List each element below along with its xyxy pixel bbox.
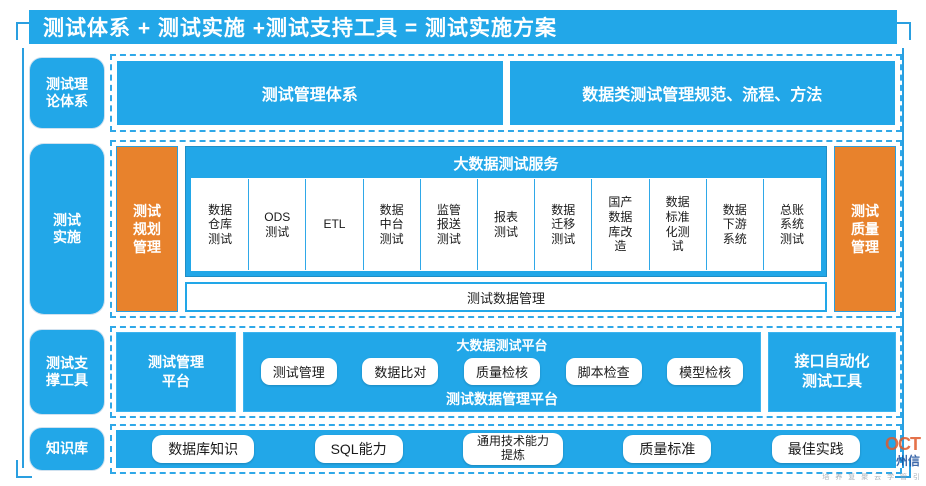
- row-label-theory: 测试理 论体系: [30, 58, 104, 128]
- title-banner: 测试体系 + 测试实施 +测试支持工具 = 测试实施方案: [29, 10, 897, 44]
- row-theory: 测试理 论体系 测试管理体系 数据类测试管理规范、流程、方法: [24, 54, 902, 132]
- cell-line2: 测试: [265, 225, 289, 239]
- test-planning-line3: 管理: [133, 239, 161, 255]
- knowledge-dashed-container: 数据库知识 SQL能力 通用技术能力 提炼 质量标准 最佳实践: [110, 424, 902, 474]
- cell-line1: 数据: [551, 203, 575, 217]
- cell-line1: 数据: [380, 203, 404, 217]
- diagram-canvas: 测试体系 + 测试实施 +测试支持工具 = 测试实施方案 测试理 论体系 测试管…: [0, 0, 926, 486]
- panel-test-management-system[interactable]: 测试管理体系: [117, 61, 503, 125]
- row-label-execution: 测试 实施: [30, 144, 104, 314]
- service-cell[interactable]: 数据 中台 测试: [364, 179, 421, 270]
- tool-pill-model-check[interactable]: 模型检核: [667, 358, 743, 385]
- iface-line2: 测试工具: [802, 373, 862, 390]
- test-quality-line2: 质量: [851, 221, 879, 237]
- card-test-quality-management[interactable]: 测试 质量 管理: [834, 146, 896, 312]
- mgmt-platform-line2: 平台: [162, 373, 190, 389]
- row-support-tools: 测试支 撑工具 测试管理 平台 大数据测试平台 测试管理 数据比对 质量检核 脚…: [24, 326, 902, 418]
- card-test-planning-management[interactable]: 测试 规划 管理: [116, 146, 178, 312]
- page-title: 测试体系 + 测试实施 +测试支持工具 = 测试实施方案: [29, 10, 897, 44]
- cell-line3: 测试: [437, 232, 461, 246]
- test-quality-line3: 管理: [851, 239, 879, 255]
- service-cell[interactable]: 数据 迁移 测试: [535, 179, 592, 270]
- panel-bigdata-test-service: 大数据测试服务 数据 仓库 测试 ODS 测试 ETL: [185, 146, 827, 277]
- service-cell[interactable]: 数据 下游 系统: [707, 179, 764, 270]
- cell-line2: 报送: [437, 217, 461, 231]
- bar-test-data-management[interactable]: 测试数据管理: [185, 282, 827, 312]
- service-cell[interactable]: ETL: [306, 179, 363, 270]
- kb-pill-best-practice[interactable]: 最佳实践: [772, 435, 860, 463]
- kb-general-line2: 提炼: [501, 448, 525, 462]
- tool-pill-script-check[interactable]: 脚本检查: [566, 358, 642, 385]
- kb-pill-sql-skill[interactable]: SQL能力: [315, 435, 403, 463]
- cell-line2: 测试: [494, 225, 518, 239]
- bigdata-service-cell-list: 数据 仓库 测试 ODS 测试 ETL 数据 中: [191, 178, 821, 271]
- panel-data-test-standards[interactable]: 数据类测试管理规范、流程、方法: [510, 61, 896, 125]
- cell-line3: 系统: [723, 232, 747, 246]
- service-cell[interactable]: 国产 数据 库改 造: [592, 179, 649, 270]
- theory-dashed-container: 测试管理体系 数据类测试管理规范、流程、方法: [110, 54, 902, 132]
- cell-line2: 中台: [380, 217, 404, 231]
- tool-pill-data-comparison[interactable]: 数据比对: [362, 358, 438, 385]
- bigdata-platform-footer: 测试数据管理平台: [250, 389, 754, 409]
- knowledge-band: 数据库知识 SQL能力 通用技术能力 提炼 质量标准 最佳实践: [116, 430, 896, 468]
- service-cell[interactable]: 监管 报送 测试: [421, 179, 478, 270]
- bigdata-service-title: 大数据测试服务: [191, 151, 821, 178]
- row-label-knowledge-base: 知识库: [30, 428, 104, 470]
- cell-line1: 数据: [723, 203, 747, 217]
- row-label-theory-line1: 测试理: [46, 76, 88, 92]
- row-label-support-line1: 测试支: [46, 355, 88, 371]
- service-cell[interactable]: 总账 系统 测试: [764, 179, 820, 270]
- cell-line1: 报表: [494, 210, 518, 224]
- mgmt-platform-line1: 测试管理: [148, 354, 204, 370]
- cell-line3: 测试: [380, 232, 404, 246]
- cell-line2: 迁移: [551, 217, 575, 231]
- tool-pill-test-management[interactable]: 测试管理: [261, 358, 337, 385]
- execution-dashed-container: 测试 规划 管理 大数据测试服务 数据 仓库 测试 ODS: [110, 140, 902, 318]
- row-knowledge-base: 知识库 数据库知识 SQL能力 通用技术能力 提炼 质量标准 最佳实践: [24, 424, 902, 474]
- cell-line3: 测试: [780, 232, 804, 246]
- bigdata-platform-tool-list: 测试管理 数据比对 质量检核 脚本检查 模型检核: [250, 357, 754, 386]
- tool-pill-quality-check[interactable]: 质量检核: [464, 358, 540, 385]
- card-test-management-platform[interactable]: 测试管理 平台: [116, 332, 236, 412]
- row-label-execution-line2: 实施: [53, 229, 81, 245]
- service-cell[interactable]: 数据 标准 化测 试: [650, 179, 707, 270]
- row-label-execution-line1: 测试: [53, 212, 81, 228]
- frame-rail-right: [902, 48, 904, 468]
- cell-line3: 库改: [608, 225, 632, 239]
- cell-line2: 标准: [666, 210, 690, 224]
- cell-line1: 数据: [666, 195, 690, 209]
- cell-line3: 化测: [666, 225, 690, 239]
- row-label-support-line2: 撑工具: [46, 372, 88, 388]
- cell-line2: 下游: [723, 217, 747, 231]
- cell-line1: 国产: [608, 195, 632, 209]
- cell-line3: 测试: [551, 232, 575, 246]
- cell-line1: ODS: [264, 210, 290, 224]
- iface-line1: 接口自动化: [794, 353, 869, 370]
- support-dashed-container: 测试管理 平台 大数据测试平台 测试管理 数据比对 质量检核 脚本检查 模型检核…: [110, 326, 902, 418]
- row-execution: 测试 实施 测试 规划 管理 大数据测试服务 数据 仓库: [24, 140, 902, 318]
- cell-line1: ETL: [323, 217, 345, 231]
- kb-pill-database-knowledge[interactable]: 数据库知识: [152, 435, 254, 463]
- bigdata-platform-title: 大数据测试平台: [250, 335, 754, 354]
- cell-line2: 系统: [780, 217, 804, 231]
- cell-line2: 数据: [608, 210, 632, 224]
- execution-center-stack: 大数据测试服务 数据 仓库 测试 ODS 测试 ETL: [185, 146, 827, 312]
- card-interface-automation-tool[interactable]: 接口自动化 测试工具: [768, 332, 896, 412]
- row-label-theory-line2: 论体系: [46, 93, 88, 109]
- test-quality-line1: 测试: [851, 203, 879, 219]
- test-planning-line1: 测试: [133, 203, 161, 219]
- kb-pill-general-tech-capability[interactable]: 通用技术能力 提炼: [463, 433, 563, 465]
- panel-bigdata-test-platform: 大数据测试平台 测试管理 数据比对 质量检核 脚本检查 模型检核 测试数据管理平…: [243, 332, 761, 412]
- service-cell[interactable]: ODS 测试: [249, 179, 306, 270]
- cell-line1: 监管: [437, 203, 461, 217]
- service-cell[interactable]: 数据 仓库 测试: [192, 179, 249, 270]
- frame-corner-top-right: [895, 22, 911, 40]
- kb-pill-quality-standard[interactable]: 质量标准: [623, 435, 711, 463]
- cell-line4: 试: [672, 239, 684, 253]
- cell-line2: 仓库: [208, 217, 232, 231]
- row-label-support-tools: 测试支 撑工具: [30, 330, 104, 414]
- cell-line3: 测试: [208, 232, 232, 246]
- kb-general-line1: 通用技术能力: [477, 434, 549, 448]
- cell-line1: 数据: [208, 203, 232, 217]
- service-cell[interactable]: 报表 测试: [478, 179, 535, 270]
- cell-line4: 造: [614, 239, 626, 253]
- cell-line1: 总账: [780, 203, 804, 217]
- test-planning-line2: 规划: [133, 221, 161, 237]
